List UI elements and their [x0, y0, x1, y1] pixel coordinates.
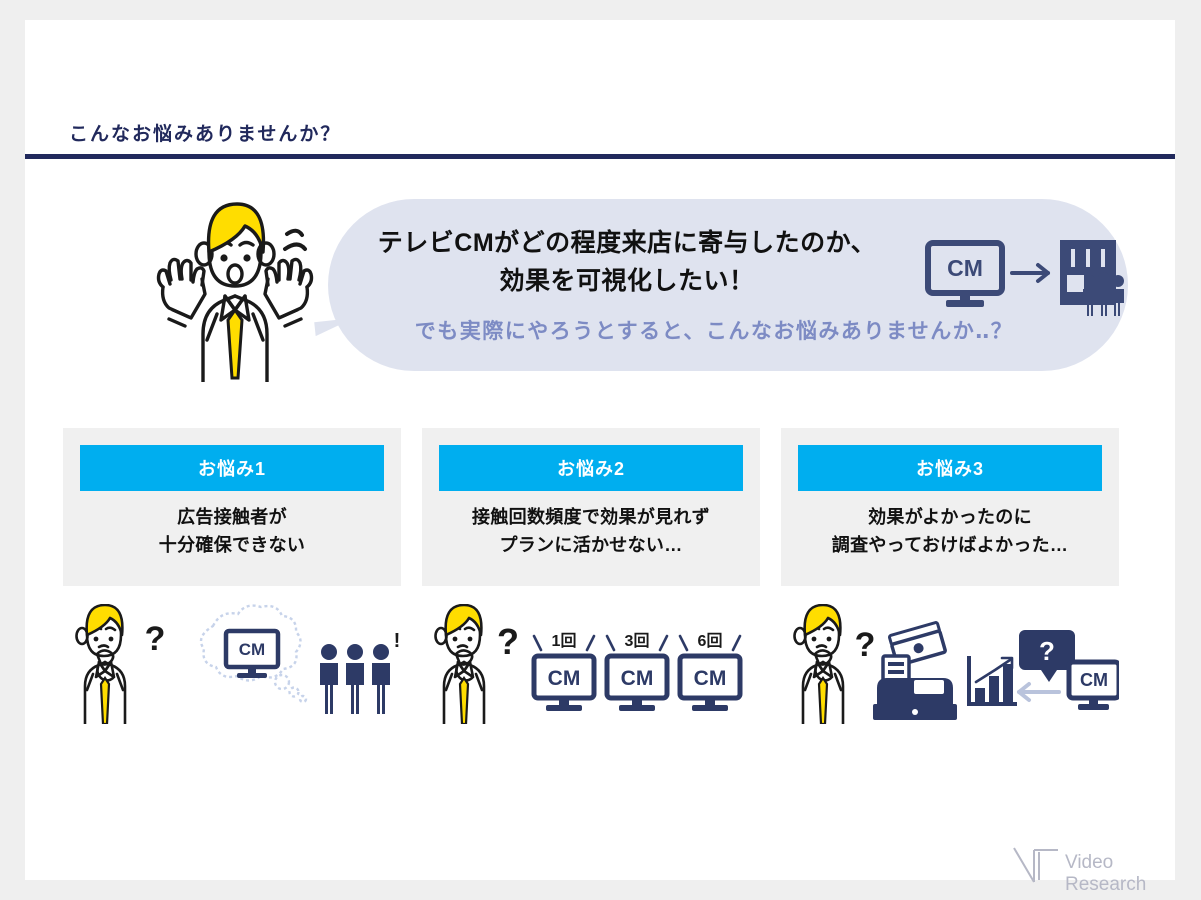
card-header: お悩み1: [80, 445, 384, 491]
card-worry-1[interactable]: お悩み1 広告接触者が 十分確保できない: [63, 428, 401, 586]
card-body: 広告接触者が 十分確保できない: [71, 504, 393, 560]
bubble-main-text: テレビCMがどの程度来店に寄与したのか、 効果を可視化したい！: [362, 225, 892, 300]
cm-monitor-icon: CM: [1069, 662, 1119, 710]
card-1-illustration: ? CM: [63, 604, 401, 724]
card-body-line-1: 効果がよかったのに: [789, 504, 1111, 532]
card-header-label: お悩み1: [198, 455, 266, 481]
bubble-main-line-2: 効果を可視化したい！: [362, 263, 892, 301]
card-header-label: お悩み2: [557, 455, 625, 481]
card-body: 接触回数頻度で効果が見れず プランに活かせない…: [430, 504, 752, 560]
card-2-illustration: ? 1回 CM: [422, 604, 760, 724]
page-title: こんなお悩みありませんか？: [69, 119, 341, 146]
card-body-line-2: 十分確保できない: [71, 532, 393, 560]
exclamation-icon: !: [394, 630, 401, 652]
thinking-man-icon: [795, 605, 844, 724]
store-people-icon: [1083, 272, 1124, 316]
monitor-count-label-2: 3回: [625, 632, 650, 650]
left-arrow-icon: [1019, 684, 1059, 700]
question-mark-icon: ?: [855, 626, 876, 664]
card-body-line-2: 調査やっておけばよかった…: [789, 532, 1111, 560]
card-panel: お悩み1 広告接触者が 十分確保できない: [63, 428, 401, 586]
speech-bubble: テレビCMがどの程度来店に寄与したのか、 効果を可視化したい！ でも実際にやろう…: [328, 199, 1128, 371]
three-people-icon: [320, 644, 390, 714]
card-panel: お悩み2 接触回数頻度で効果が見れず プランに活かせない…: [422, 428, 760, 586]
card-worry-3[interactable]: お悩み3 効果がよかったのに 調査やっておけばよかった…: [781, 428, 1119, 586]
card-header-label: お悩み3: [916, 455, 984, 481]
card-panel: お悩み3 効果がよかったのに 調査やっておけばよかった…: [781, 428, 1119, 586]
monitor-count-label-3: 6回: [698, 632, 723, 650]
bubble-monitor-label: CM: [947, 255, 983, 281]
worried-man-hands-up-icon: [125, 192, 345, 382]
cm-label: CM: [239, 640, 265, 659]
cm-to-store-icon: CM: [924, 237, 1124, 317]
question-mark-icon: ?: [145, 620, 166, 658]
bubble-main-line-1: テレビCMがどの程度来店に寄与したのか、: [362, 225, 892, 263]
monitor-group-1: 1回 CM: [534, 632, 594, 711]
card-body-line-2: プランに活かせない…: [430, 532, 752, 560]
card-3-illustration: ?: [781, 604, 1119, 724]
card-body-line-1: 広告接触者が: [71, 504, 393, 532]
bar-chart-up-icon: [967, 656, 1017, 706]
cash-register-icon: [873, 656, 957, 720]
hero-section: テレビCMがどの程度来店に寄与したのか、 効果を可視化したい！ でも実際にやろう…: [25, 170, 1175, 420]
right-arrow-icon: [1012, 265, 1048, 281]
monitor-count-label-1: 1回: [552, 632, 577, 650]
monitor-screen-label-2: CM: [621, 667, 654, 690]
monitor-screen-label-1: CM: [548, 667, 581, 690]
video-research-logo: Video Research: [1010, 842, 1190, 890]
bubble-sub-text: でも実際にやろうとすると、こんなお悩みありませんか‥？: [364, 315, 1064, 345]
header-divider: [25, 154, 1175, 159]
card-worry-2[interactable]: お悩み2 接触回数頻度で効果が見れず プランに活かせない…: [422, 428, 760, 586]
card-body-line-1: 接触回数頻度で効果が見れず: [430, 504, 752, 532]
question-bubble-label: ?: [1039, 636, 1055, 666]
cm-monitor-icon: CM: [226, 631, 278, 678]
logo-text: Video Research: [1065, 852, 1190, 896]
monitor-group-2: 3回 CM: [607, 632, 667, 711]
card-header: お悩み3: [798, 445, 1102, 491]
monitor-screen-label-3: CM: [694, 667, 727, 690]
cm-label: CM: [1080, 670, 1108, 690]
card-body: 効果がよかったのに 調査やっておけばよかった…: [789, 504, 1111, 560]
card-header: お悩み2: [439, 445, 743, 491]
monitor-group-3: 6回 CM: [680, 632, 740, 711]
question-mark-icon: ?: [497, 621, 519, 662]
thinking-man-icon: [77, 605, 126, 724]
slide: こんなお悩みありませんか？: [25, 20, 1175, 880]
thinking-man-icon: [436, 605, 485, 724]
cards-section: お悩み1 広告接触者が 十分確保できない: [63, 428, 1138, 728]
